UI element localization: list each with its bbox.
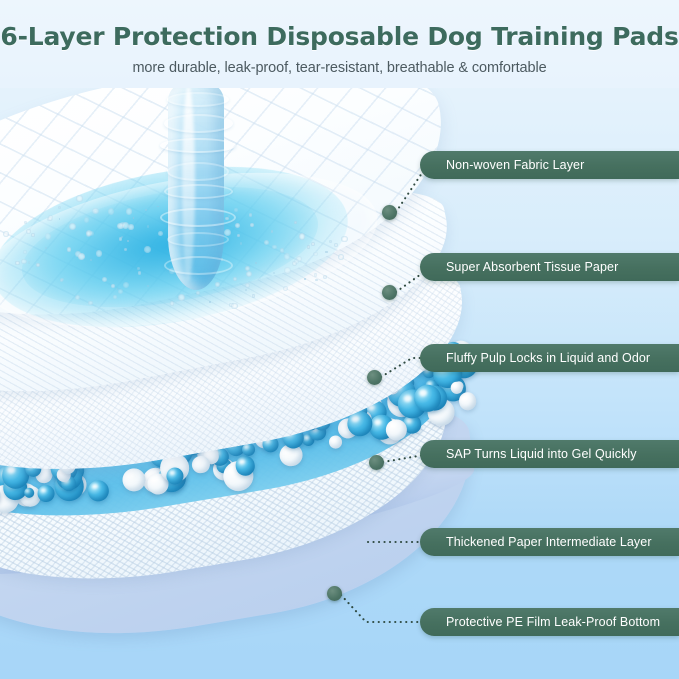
product-infographic: 6-Layer Protection Disposable Dog Traini… [0, 0, 679, 679]
connector-line-6 [0, 0, 679, 679]
anchor-dot-6 [327, 586, 342, 601]
callout-group: Non-woven Fabric Layer Super Absorbent T… [0, 0, 679, 679]
callout-pill-6[interactable]: Protective PE Film Leak-Proof Bottom [420, 608, 679, 636]
callout-label-6: Protective PE Film Leak-Proof Bottom [420, 615, 660, 629]
